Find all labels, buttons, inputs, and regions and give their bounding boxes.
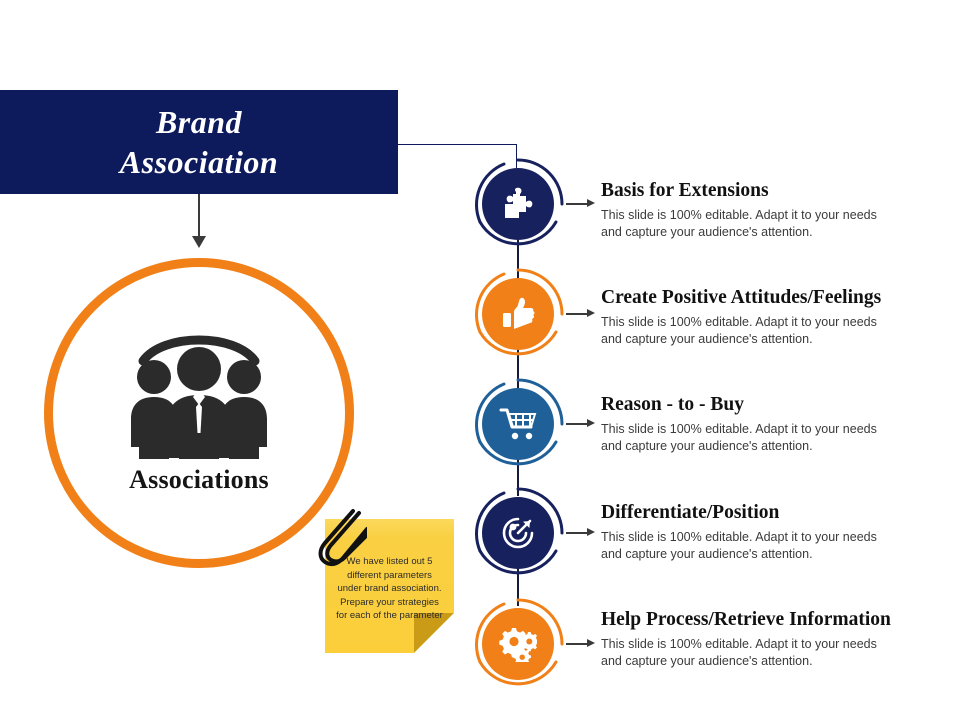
item-title: Create Positive Attitudes/Feelings [601,286,951,310]
arrow-stem [566,423,588,425]
node-core-4 [482,497,554,569]
node-basis-for-extensions[interactable] [470,156,566,252]
arrow-to-center-head [192,236,206,248]
sticky-note: We have listed out 5 different parameter… [325,519,454,653]
node-core-1 [482,168,554,240]
item-text-block-5: Help Process/Retrieve Information This s… [601,608,951,669]
radar-target-icon [500,515,536,551]
center-label: Associations [129,465,269,495]
arrow-to-center-stem [198,194,200,242]
sticky-note-line: Prepare your strategies [328,596,451,610]
node-core-2 [482,278,554,350]
puzzle-piece-icon [501,187,535,221]
node-core-5 [482,608,554,680]
item-description: This slide is 100% editable. Adapt it to… [601,529,891,562]
gears-icon [499,626,537,662]
node-reason-to-buy[interactable] [470,376,566,472]
sticky-note-line: for each of the parameter [328,609,451,623]
arrow-stem [566,532,588,534]
item-text-block-4: Differentiate/Position This slide is 100… [601,501,951,562]
item-title: Reason - to - Buy [601,393,951,417]
node-create-positive-attitudes[interactable] [470,266,566,362]
thumbs-up-icon [500,297,536,331]
item-title: Differentiate/Position [601,501,951,525]
arrow-stem [566,313,588,315]
arrow-head [587,309,595,317]
item-title: Basis for Extensions [601,179,951,203]
shopping-cart-icon [499,407,537,441]
paperclip-icon [307,507,367,572]
item-description: This slide is 100% editable. Adapt it to… [601,636,891,669]
item-description: This slide is 100% editable. Adapt it to… [601,314,891,347]
connector-horizontal [398,144,517,145]
item-text-block-2: Create Positive Attitudes/Feelings This … [601,286,951,347]
item-description: This slide is 100% editable. Adapt it to… [601,207,891,240]
arrow-head [587,639,595,647]
slide-title-line-2: Association [120,142,278,182]
three-people-icon [119,331,279,459]
item-text-block-1: Basis for Extensions This slide is 100% … [601,179,951,240]
slide-title-line-1: Brand [156,102,242,142]
arrow-head [587,419,595,427]
sticky-note-line: under brand association. [328,582,451,596]
slide-canvas: Brand Association Associations [0,0,960,720]
item-title: Help Process/Retrieve Information [601,608,951,632]
item-description: This slide is 100% editable. Adapt it to… [601,421,891,454]
arrow-head [587,199,595,207]
node-help-process-retrieve-information[interactable] [470,596,566,692]
node-core-3 [482,388,554,460]
arrow-stem [566,643,588,645]
slide-title-box: Brand Association [0,90,398,194]
arrow-head [587,528,595,536]
node-differentiate-position[interactable] [470,485,566,581]
item-text-block-3: Reason - to - Buy This slide is 100% edi… [601,393,951,454]
arrow-stem [566,203,588,205]
